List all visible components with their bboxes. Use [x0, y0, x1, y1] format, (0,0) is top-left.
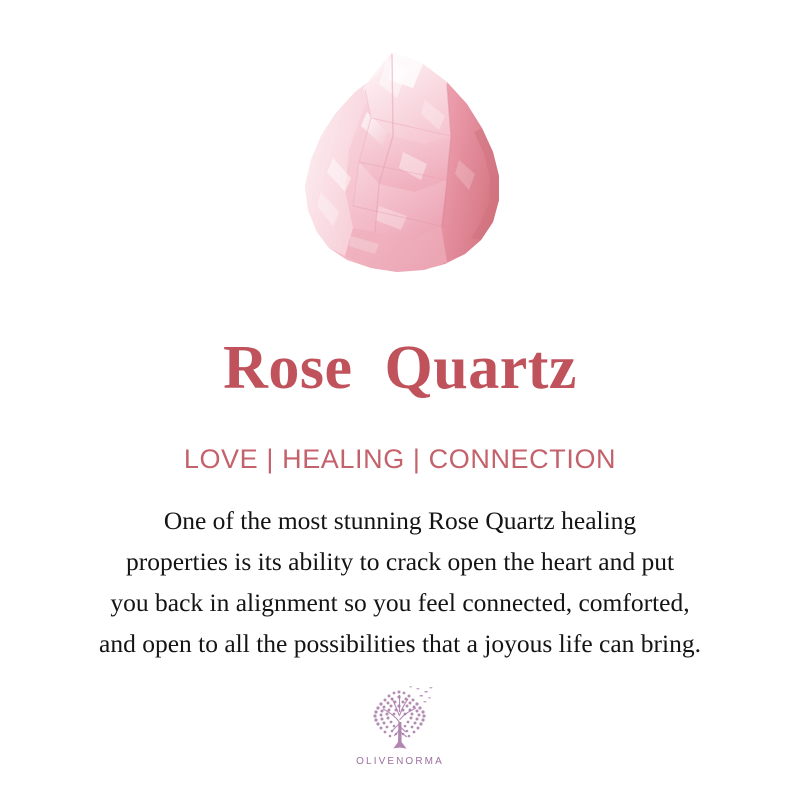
brand-wordmark: OLIVENORMA	[356, 756, 444, 767]
description-line: One of the most stunning Rose Quartz hea…	[26, 500, 774, 541]
description-line: you back in alignment so you feel connec…	[26, 582, 774, 623]
product-description: One of the most stunning Rose Quartz hea…	[26, 500, 774, 664]
product-image-container	[0, 40, 800, 295]
tree-with-birds-icon	[361, 684, 439, 754]
description-line: and open to all the possibilities that a…	[26, 623, 774, 664]
brand-logo: OLIVENORMA	[0, 684, 800, 767]
keyword-tagline: LOVE | HEALING | CONNECTION	[0, 443, 800, 475]
description-line: properties is its ability to crack open …	[26, 541, 774, 582]
rose-quartz-info-card: Rose Quartz LOVE | HEALING | CONNECTION …	[0, 0, 800, 800]
page-title: Rose Quartz	[0, 334, 800, 402]
rose-quartz-crystal-icon	[275, 40, 525, 290]
